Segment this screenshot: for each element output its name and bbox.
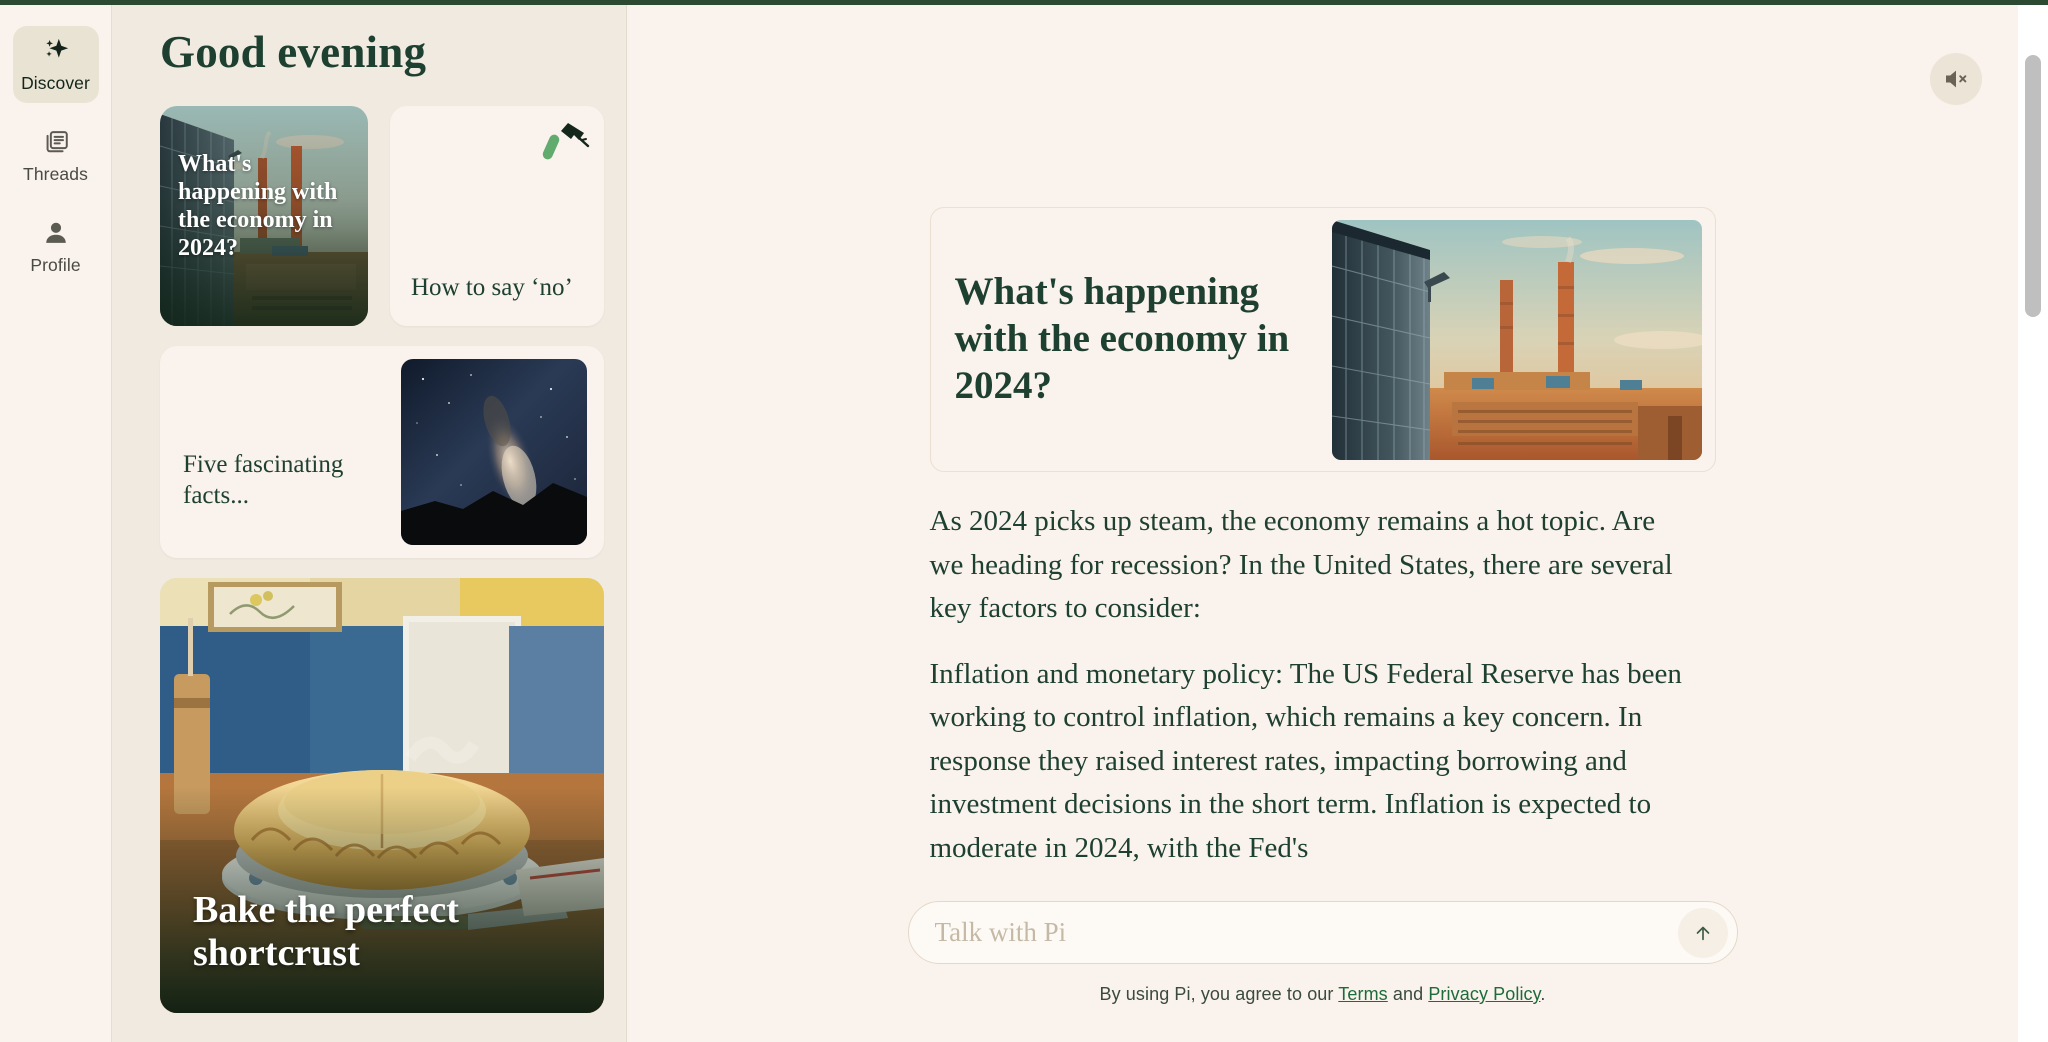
pi-app-window: Discover Threads Profile — [0, 0, 2048, 1042]
sidebar-item-profile[interactable]: Profile — [13, 208, 99, 285]
profile-icon — [41, 218, 71, 248]
threads-icon — [41, 127, 71, 157]
sidebar-item-threads[interactable]: Threads — [13, 117, 99, 194]
composer-field-wrap[interactable] — [908, 901, 1738, 964]
discover-card-facts[interactable]: Five fascinating facts... — [160, 346, 604, 558]
privacy-policy-link[interactable]: Privacy Policy — [1428, 984, 1540, 1004]
discover-card-say-no[interactable]: How to say ‘no’ — [390, 106, 604, 326]
send-button[interactable] — [1678, 908, 1728, 958]
facts-card-image — [401, 359, 587, 545]
sidebar-item-label: Profile — [30, 255, 80, 276]
sidebar-nav: Discover Threads Profile — [0, 0, 112, 1042]
sidebar-item-label: Discover — [21, 73, 90, 94]
footer-suffix: . — [1540, 984, 1545, 1004]
article-paragraph: Inflation and monetary policy: The US Fe… — [930, 653, 1690, 871]
bake-card-title: Bake the perfect shortcrust — [193, 889, 574, 974]
page-scrollbar[interactable] — [2018, 0, 2048, 1042]
economy-card-title: What's happening with the economy in 202… — [178, 150, 356, 262]
legal-footer: By using Pi, you agree to our Terms and … — [908, 984, 1738, 1005]
discover-card-list: What's happening with the economy in 202… — [160, 106, 604, 1013]
article-body: As 2024 picks up steam, the economy rema… — [930, 500, 1690, 892]
article-hero-image — [1332, 220, 1702, 460]
discover-panel: Good evening — [112, 0, 627, 1042]
browser-chrome-strip — [0, 0, 2048, 5]
chat-panel: What's happening with the economy in 202… — [627, 0, 2048, 1042]
footer-prefix: By using Pi, you agree to our — [1099, 984, 1338, 1004]
sparkle-icon — [41, 36, 71, 66]
discover-card-row-top: What's happening with the economy in 202… — [160, 106, 604, 326]
composer — [908, 901, 1738, 964]
message-input[interactable] — [935, 917, 1679, 948]
facts-card-title: Five fascinating facts... — [183, 450, 388, 511]
page-title: Good evening — [160, 28, 626, 78]
article-paragraph: As 2024 picks up steam, the economy rema… — [930, 500, 1690, 631]
discover-card-bake[interactable]: Bake the perfect shortcrust — [160, 578, 604, 1013]
article-title: What's happening with the economy in 202… — [955, 269, 1318, 409]
sidebar-item-discover[interactable]: Discover — [13, 26, 99, 103]
discover-card-economy[interactable]: What's happening with the economy in 202… — [160, 106, 368, 326]
hammer-icon — [538, 120, 590, 164]
scrollbar-thumb[interactable] — [2025, 55, 2041, 317]
terms-link[interactable]: Terms — [1338, 984, 1388, 1004]
article-hero-card[interactable]: What's happening with the economy in 202… — [930, 207, 1716, 472]
thread-scroll-area[interactable]: What's happening with the economy in 202… — [627, 0, 2018, 1042]
sidebar-item-label: Threads — [23, 164, 88, 185]
say-no-card-title: How to say ‘no’ — [411, 274, 590, 302]
footer-middle: and — [1388, 984, 1429, 1004]
